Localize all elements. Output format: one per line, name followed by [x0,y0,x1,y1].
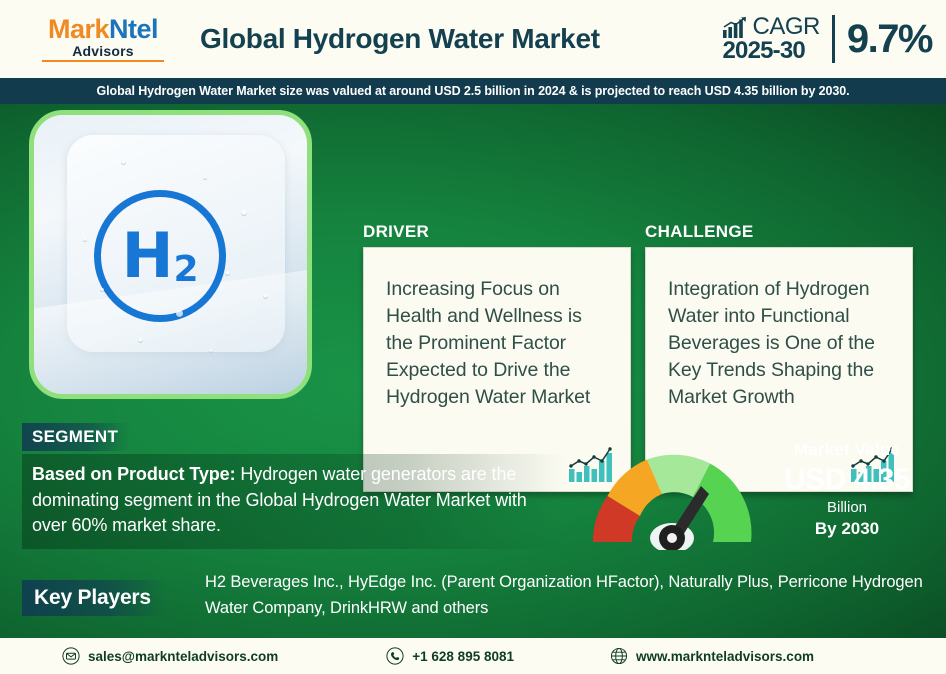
segment-heading: SEGMENT [32,427,118,446]
product-image: H2 [29,110,312,399]
logo-wordmark: MarkNtel [28,16,178,43]
footer-phone-text: +1 628 895 8081 [412,649,514,664]
envelope-icon [62,647,80,665]
water-droplet [263,294,268,299]
speedometer-gauge-icon [583,442,761,550]
cagr-label: CAGR [752,15,819,39]
footer-email[interactable]: sales@marknteladvisors.com [62,647,278,665]
key-players-heading: Key Players [22,580,167,616]
h2-symbol: H [122,219,174,292]
logo-ntel-text: Ntel [109,14,158,44]
header-bar: MarkNtel Advisors Global Hydrogen Water … [0,0,946,78]
water-droplet [83,238,87,242]
footer-website-text: www.marknteladvisors.com [636,649,814,664]
logo-underline [42,60,164,62]
cagr-divider [832,15,835,63]
market-value-year: By 2030 [762,519,932,539]
cagr-value: 9.7% [847,17,932,62]
challenge-heading: CHALLENGE [645,222,753,242]
driver-heading: DRIVER [363,222,429,242]
market-value-amount: USD 4.35 [762,463,932,497]
driver-text: Increasing Focus on Health and Wellness … [364,248,630,411]
water-droplet [138,338,143,343]
cagr-block: CAGR 2025-30 9.7% [722,6,932,72]
footer-bar: sales@marknteladvisors.com +1 628 895 80… [0,638,946,674]
segment-body: Based on Product Type: Hydrogen water ge… [22,454,567,549]
market-value-block: Market Value USD 4.35 Billion By 2030 [762,440,932,539]
water-droplet [100,288,104,292]
h2-molecule-icon: H2 [94,190,226,322]
company-logo[interactable]: MarkNtel Advisors [28,16,178,62]
market-value-unit: Billion [762,499,932,516]
infographic-body: H2 DRIVER Increasing Focus on Health and… [0,104,946,638]
challenge-text: Integration of Hydrogen Water into Funct… [646,248,912,411]
bar-chart-arrow-icon [722,17,748,39]
key-players-text: H2 Beverages Inc., HyEdge Inc. (Parent O… [205,570,925,621]
footer-phone[interactable]: +1 628 895 8081 [386,647,514,665]
market-value-title: Market Value [762,440,932,460]
product-image-background: H2 [34,115,307,394]
cagr-years: 2025-30 [722,39,819,63]
globe-icon [610,647,628,665]
h2-subscript: 2 [173,249,198,290]
logo-mark-text: Mark [48,14,109,44]
phone-icon [386,647,404,665]
summary-banner-text: Global Hydrogen Water Market size was va… [97,84,850,98]
summary-banner: Global Hydrogen Water Market size was va… [0,78,946,104]
segment-heading-badge: SEGMENT [22,423,130,451]
infographic-page: MarkNtel Advisors Global Hydrogen Water … [0,0,946,674]
segment-lead: Based on Product Type: [32,464,236,484]
footer-website[interactable]: www.marknteladvisors.com [610,647,814,665]
cagr-label-group: CAGR 2025-30 [722,15,819,64]
footer-email-text: sales@marknteladvisors.com [88,649,278,664]
logo-subtitle: Advisors [28,44,178,58]
page-title: Global Hydrogen Water Market [200,23,600,55]
